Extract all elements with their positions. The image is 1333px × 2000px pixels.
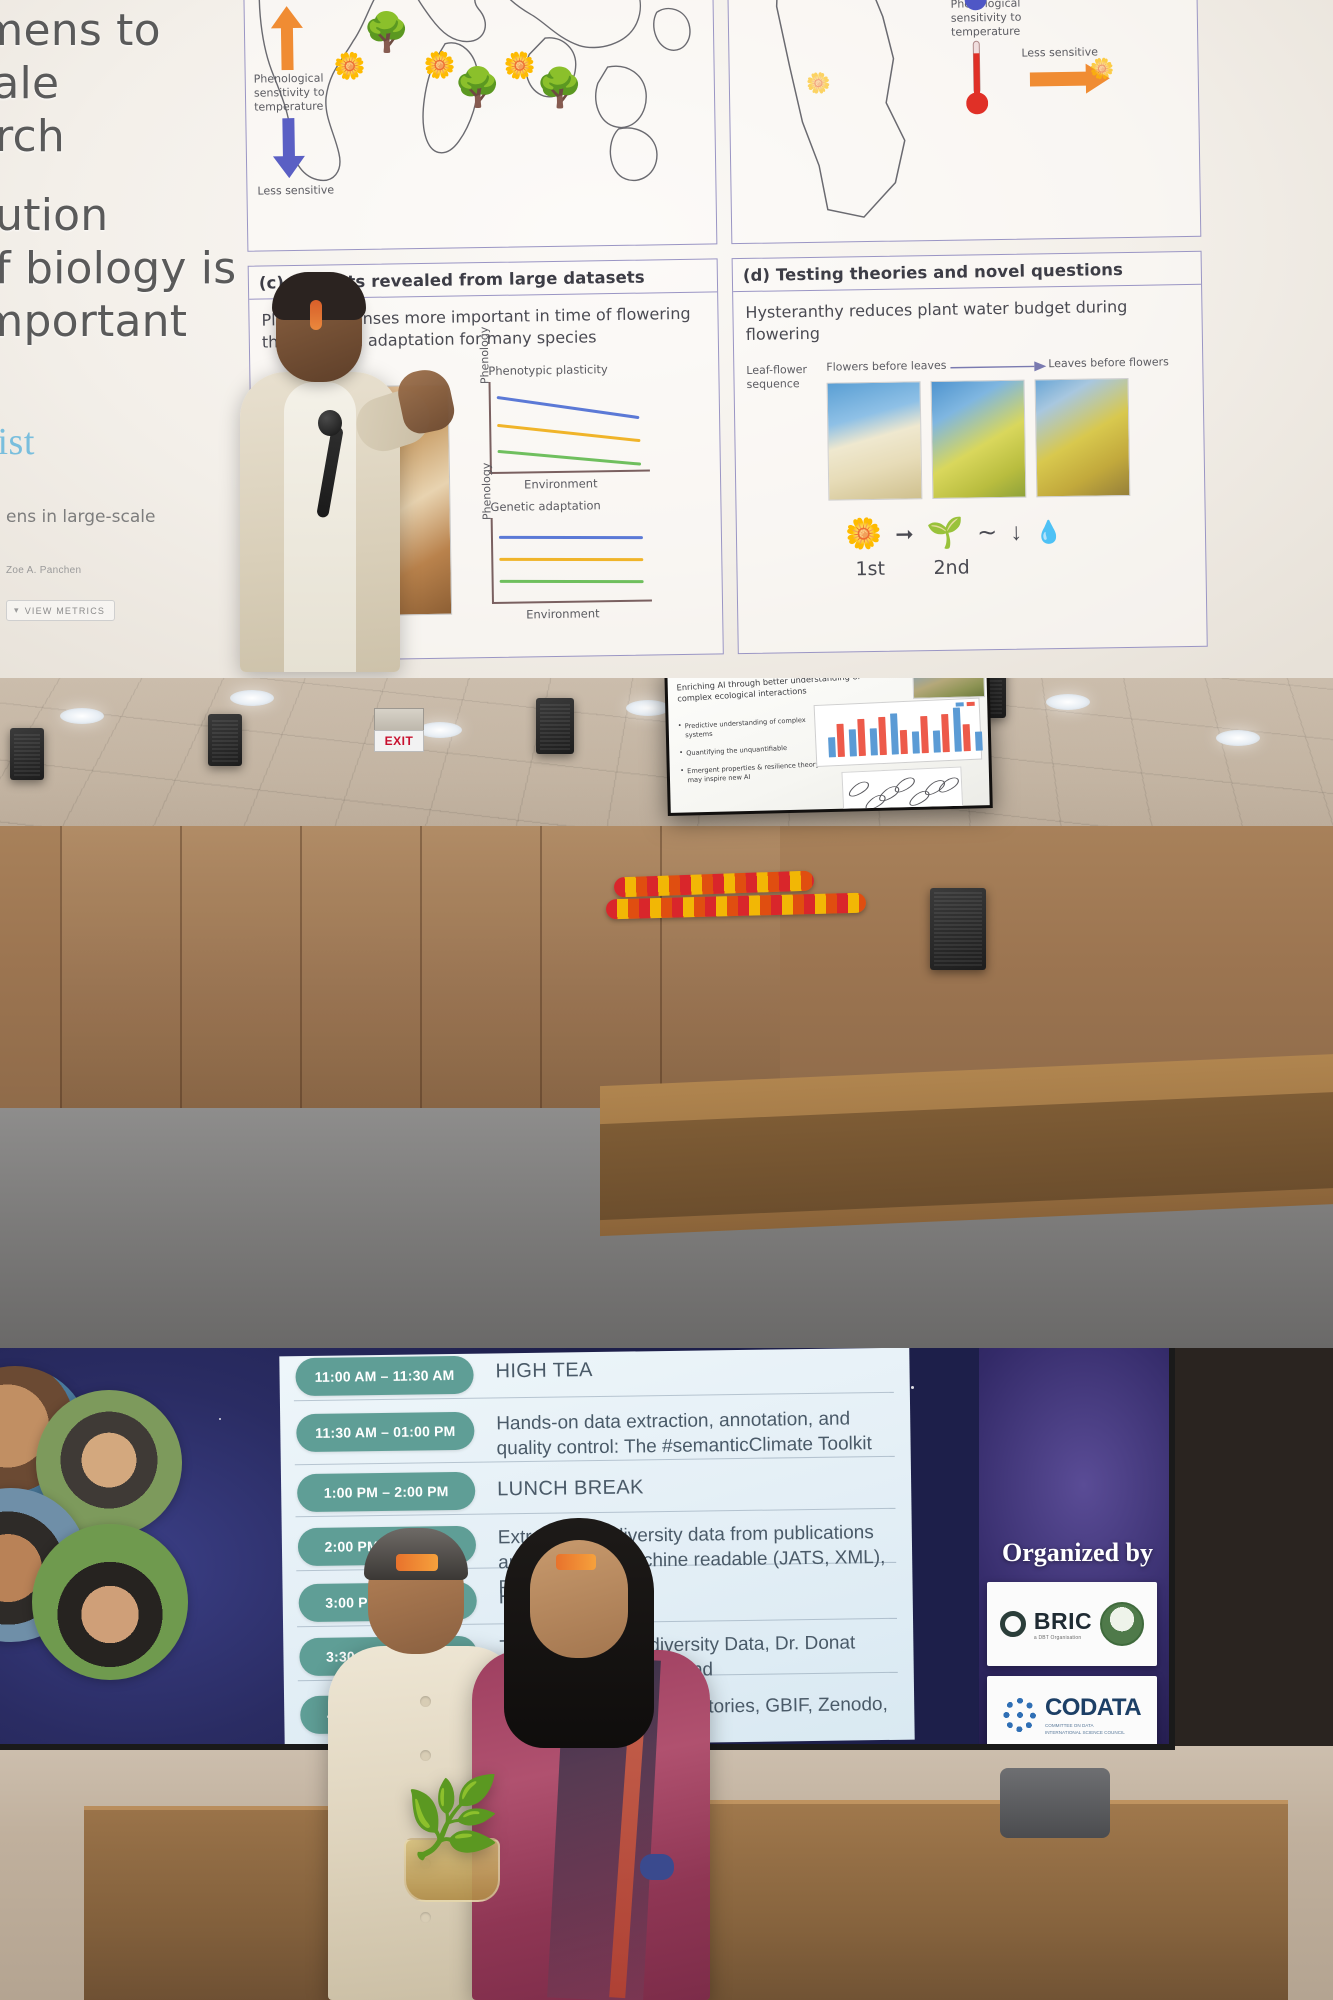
world-map-svg [243, 0, 716, 251]
author-name: Zoe A. Panchen [6, 565, 81, 576]
x-axis-label-environment-1: Environment [524, 476, 598, 491]
flower-glyph-1: 🌼 [333, 53, 366, 80]
axis-label-less-sensitive-a: Less sensitive [257, 183, 334, 198]
y-axis-label-phenology-2: Phenology [480, 463, 494, 521]
male-dignitary-tilak [396, 1554, 438, 1571]
thermometer-cold-icon [964, 0, 987, 23]
violin-1 [845, 779, 872, 799]
y-axis-genetic [491, 518, 494, 604]
line-series-3-plasticity [497, 450, 641, 466]
line-series-3-genetic [500, 580, 644, 583]
bar-12 [941, 714, 950, 752]
line-chart-genetic [491, 515, 652, 604]
wall-panel-2 [180, 826, 300, 1126]
left-line-4: aution [0, 189, 268, 242]
flower-glyph-b2: 🌼 [806, 74, 831, 94]
violin-7 [935, 775, 962, 795]
panel2-slide-title: Enriching AI through better understandin… [676, 678, 877, 704]
bar-11 [933, 730, 941, 752]
y-axis-label-phenology-1: Phenology [478, 327, 492, 385]
thermometer-hot-icon [965, 37, 988, 127]
bar-10 [920, 716, 929, 753]
seedling-glyph-d: 🌱 [927, 519, 965, 550]
dbt-seal-icon [1100, 1602, 1144, 1646]
ceiling-light-7 [1216, 730, 1260, 746]
axis-label-less-sensitive-b: Less sensitive [1021, 45, 1098, 60]
axis-label-sensitivity-b: Phenological sensitivity to temperature [951, 0, 1036, 40]
microphone-head-icon [318, 410, 342, 436]
bar-5 [870, 728, 878, 755]
figure-panel-b: across species' range 🌼 🌼 More sensitive… [726, 0, 1201, 244]
y-axis-plasticity [489, 382, 492, 474]
panel2-bullet-1: Predictive understanding of complex syst… [678, 715, 819, 740]
panel3-desk-right [688, 1800, 1288, 2000]
bamboo-plant-icon: 🌿 [404, 1778, 501, 1856]
slide-photo-inset [912, 678, 985, 699]
figure-panel-d: (d) Testing theories and novel questions… [732, 251, 1208, 654]
left-line-1: imens to [0, 4, 268, 57]
bric-label: BRIC [1034, 1608, 1092, 1634]
wall-speaker-2 [208, 714, 242, 766]
panel2-bullet-2: Quantifying the unquantifiable [679, 742, 819, 758]
projected-slide: Enriching AI through better understandin… [667, 678, 989, 813]
bar-3 [849, 729, 857, 756]
bar-chart-legend [956, 702, 975, 707]
world-map-sketch: America Europe Eastern Asia [243, 0, 716, 251]
logo-card-codata: CODATA COMMITTEE ON DATA INTERNATIONAL S… [987, 1676, 1157, 1744]
female-dignitary-tilak [556, 1554, 596, 1570]
vest-button-2 [420, 1750, 431, 1761]
female-dignitary-wristband [640, 1854, 674, 1880]
order-label-second: 2nd [933, 556, 970, 579]
down-arrow-icon-d: ↓ [1010, 521, 1022, 545]
codata-label: CODATA [1045, 1694, 1141, 1721]
ceiling-light-6 [1046, 694, 1090, 710]
bar-9 [912, 731, 920, 753]
water-drop-icon-d: 💧 [1035, 521, 1063, 543]
california-outline-svg [763, 0, 918, 227]
bar-6 [878, 717, 887, 755]
tree-glyph-2: 🌳 [454, 69, 502, 108]
phenology-photo-3 [1035, 378, 1131, 497]
exit-sign: EXIT [374, 730, 424, 752]
x-axis-genetic [492, 599, 652, 604]
tree-glyph-1: 🌳 [363, 14, 411, 53]
figure-panel-b-body: across species' range 🌼 🌼 More sensitive… [727, 0, 1200, 243]
row-label-leaf-flower-sequence: Leaf-flower sequence [746, 363, 808, 392]
schedule-activity-3: LUNCH BREAK [497, 1472, 897, 1503]
bar-15 [975, 731, 983, 750]
figure-panel-a: America Europe Eastern Asia More sensiti… [242, 0, 717, 252]
vest-button-1 [420, 1696, 431, 1707]
tilde-icon-d: ∼ [977, 521, 997, 545]
figure-panel-a-body: America Europe Eastern Asia More sensiti… [243, 0, 716, 251]
bar-13 [953, 707, 962, 751]
slide-bar-chart [814, 698, 983, 767]
bric-ring-icon [1000, 1611, 1026, 1637]
bar-4 [857, 719, 866, 756]
panel1-speaker [228, 278, 428, 678]
flower-glyph-2: 🌼 [423, 51, 456, 78]
wall-speaker-1 [10, 728, 44, 780]
photo-collage: imens to cale arch aution of biology is … [0, 0, 1333, 2000]
panel-felicitation-photo: ■ 11:00 AM – 11:30 AM 11:30 AM – 01:00 P… [0, 1348, 1333, 2000]
schedule-activity-1: HIGH TEA [495, 1354, 895, 1385]
line-series-2-plasticity [497, 424, 641, 442]
view-metrics-button[interactable]: ▾ VIEW METRICS [6, 600, 115, 621]
arrow-right-icon-d: ➞ [895, 523, 914, 545]
figure-panel-d-subtitle: Hysteranthy reduces plant water budget d… [733, 285, 1202, 346]
panel3-chair [1000, 1768, 1110, 1838]
sequence-glyph-row: 🌼 ➞ 🌱 ∼ ↓ 💧 [845, 517, 1063, 550]
wall-panel-3 [300, 826, 420, 1126]
panel2-bullet-3: Emergent properties & resilience theory … [680, 760, 821, 785]
gradient-arrow-icon [950, 361, 1046, 373]
gradient-label-leaves-before-flowers: Leaves before flowers [1048, 355, 1169, 371]
ceiling-light-4 [626, 700, 670, 716]
phenology-photo-2 [931, 380, 1027, 499]
panel-auditorium-wide-shot: EXIT Enriching AI through better underst… [0, 678, 1333, 1348]
schedule-time-1: 11:00 AM – 11:30 AM [295, 1356, 474, 1396]
panel2-slide-bullets: Predictive understanding of complex syst… [678, 715, 822, 794]
flower-glyph-3: 🌼 [503, 52, 536, 79]
projection-screen: Enriching AI through better understandin… [664, 678, 993, 816]
vest-button-5 [420, 1912, 431, 1923]
panel1-speaker-tilak [310, 300, 322, 330]
wall-panel-5 [540, 826, 660, 1126]
codata-dots-icon [1003, 1698, 1037, 1732]
logo-card-bric: BRIC a DBT Organisation [987, 1582, 1157, 1666]
line-series-2-genetic [499, 558, 643, 561]
gradient-label-flowers-before-leaves: Flowers before leaves [826, 359, 946, 375]
bar-8 [900, 730, 908, 754]
wall-speaker-3 [536, 698, 574, 754]
flower-glyph-b4: 🌼 [1090, 59, 1115, 79]
wall-panel-4 [420, 826, 540, 1126]
up-arrow-icon-a [269, 6, 306, 71]
ceiling-light-1 [60, 708, 104, 724]
down-arrow-icon-a [270, 118, 307, 179]
bar-7 [890, 713, 899, 754]
codata-sublabel-top: COMMITTEE ON DATA [1045, 1722, 1141, 1729]
bar-2 [836, 724, 844, 757]
x-axis-plasticity [490, 469, 650, 474]
schedule-time-2: 11:30 AM – 01:00 PM [296, 1412, 475, 1452]
citation-fragment: ens in large-scale [6, 505, 236, 529]
legend-swatch-1 [956, 702, 964, 706]
codata-sublabel-bottom: INTERNATIONAL SCIENCE COUNCIL [1045, 1729, 1141, 1736]
journal-title-fragment: gist [0, 420, 35, 464]
phenology-photo-1 [827, 381, 923, 500]
view-metrics-label: VIEW METRICS [25, 606, 105, 616]
portrait-collage: ■ [0, 1356, 270, 1736]
chart-title-plasticity: Phenotypic plasticity [488, 362, 608, 378]
female-dignitary [470, 1518, 720, 2000]
left-line-3: arch [0, 110, 268, 163]
flower-glyph-d: 🌼 [845, 520, 883, 551]
wall-panel-1 [60, 826, 180, 1126]
line-series-1-plasticity [497, 396, 640, 419]
left-line-2: cale [0, 57, 268, 110]
bar-14 [963, 724, 971, 751]
portrait-avatar-4 [32, 1524, 188, 1680]
x-axis-label-environment-2: Environment [526, 606, 600, 621]
bar-1 [828, 737, 836, 757]
line-series-1-genetic [499, 536, 643, 539]
bric-wordmark: BRIC a DBT Organisation [1034, 1608, 1092, 1641]
chevron-down-icon: ▾ [14, 605, 20, 616]
order-label-first: 1st [855, 558, 885, 580]
organized-by-heading: Organized by [1002, 1538, 1153, 1568]
panel-projected-review-slide: imens to cale arch aution of biology is … [0, 0, 1333, 678]
wall-speaker-5 [930, 888, 986, 970]
slide-violin-chart [841, 767, 963, 813]
exit-sign-housing [374, 708, 424, 732]
schedule-activity-2: Hands-on data extraction, annotation, an… [496, 1406, 897, 1462]
line-chart-plasticity [489, 379, 650, 474]
ceiling-light-3 [418, 722, 462, 738]
bric-sublabel: a DBT Organisation [1034, 1635, 1092, 1641]
axis-label-sensitivity-a: Phenological sensitivity to temperature [254, 71, 335, 114]
schedule-time-3: 1:00 PM – 2:00 PM [297, 1472, 476, 1512]
chart-title-genetic: Genetic adaptation [490, 498, 601, 514]
codata-wordmark: CODATA COMMITTEE ON DATA INTERNATIONAL S… [1045, 1694, 1141, 1736]
figure-panel-d-body: Leaf-flower sequence Flowers before leav… [734, 339, 1207, 646]
tree-glyph-3: 🌳 [536, 69, 584, 108]
ceiling-light-2 [230, 690, 274, 706]
legend-swatch-2 [967, 702, 975, 706]
violin-4 [891, 775, 918, 795]
